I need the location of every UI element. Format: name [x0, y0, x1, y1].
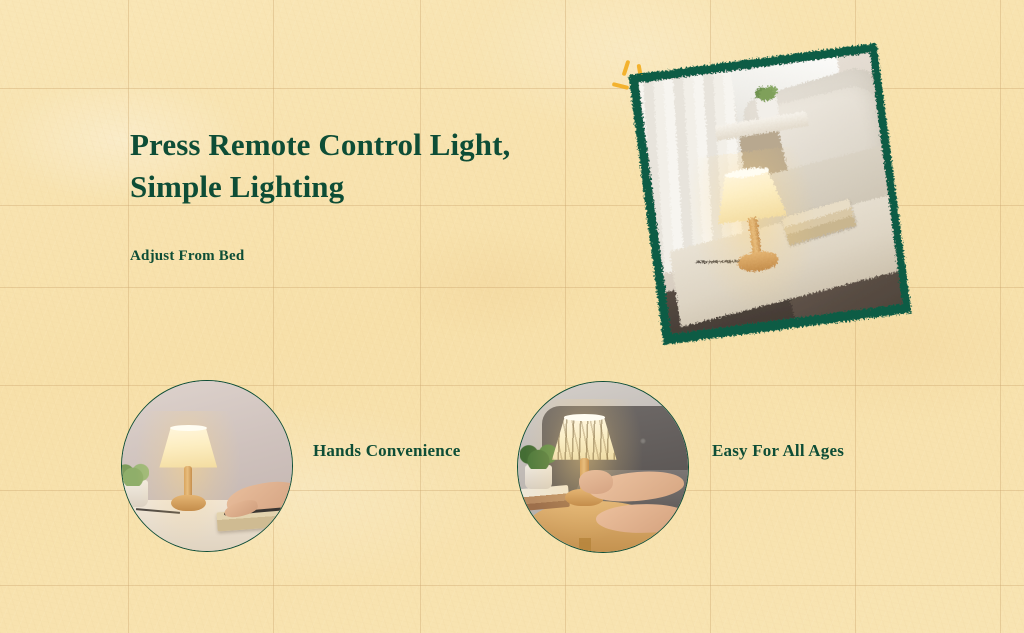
sparkle-icon	[612, 82, 629, 90]
subheading: Adjust From Bed	[130, 248, 244, 265]
grid-line-vertical	[420, 0, 421, 633]
promo-banner: Press Remote Control Light, Simple Light…	[0, 0, 1024, 633]
feature-label-hands-convenience: Hands Convenience	[313, 441, 460, 461]
headline-line-1: Press Remote Control Light,	[130, 124, 650, 166]
feature-photo-easy-for-all-ages	[517, 381, 689, 553]
grid-line-vertical	[1000, 0, 1001, 633]
hero-product-photo	[629, 43, 912, 345]
sparkle-icon	[622, 60, 631, 76]
table-lamp-icon	[159, 427, 217, 515]
table-lamp-icon	[712, 167, 795, 281]
feature-photo-hands-convenience	[121, 380, 293, 552]
hero-photo-image	[639, 53, 903, 334]
grid-line-horizontal	[0, 585, 1024, 586]
headline-line-2: Simple Lighting	[130, 166, 650, 208]
hero-photo-torn-frame	[629, 43, 912, 345]
page-title: Press Remote Control Light, Simple Light…	[130, 124, 650, 208]
feature-label-easy-for-all-ages: Easy For All Ages	[712, 441, 844, 461]
